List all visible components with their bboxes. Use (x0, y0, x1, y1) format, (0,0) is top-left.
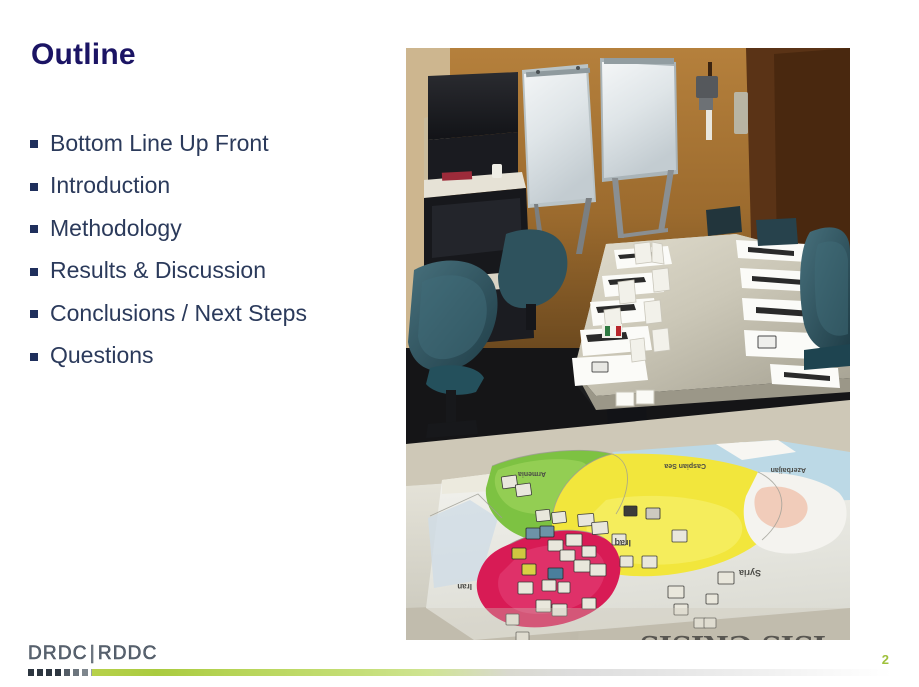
wargame-room-photo: Armenia Caspian Sea Azerbaijan Iraq Syri… (406, 48, 850, 640)
slide-canvas: Outline Bottom Line Up Front Introductio… (0, 0, 919, 687)
page-number: 2 (882, 652, 889, 667)
list-item-label: Conclusions / Next Steps (50, 302, 307, 325)
square-bullet-icon (30, 183, 38, 191)
map-label-syria: Syria (738, 568, 761, 578)
square-bullet-icon (30, 310, 38, 318)
slide-footer: DRDC|RDDC 2 (0, 639, 919, 687)
logo-separator: | (88, 643, 98, 664)
drdc-rddc-logo: DRDC|RDDC (28, 643, 158, 665)
logo-right-text: RDDC (98, 643, 158, 664)
list-item-label: Results & Discussion (50, 259, 266, 282)
list-item-label: Bottom Line Up Front (50, 132, 269, 155)
list-item-label: Methodology (50, 217, 182, 240)
list-item: Results & Discussion (30, 250, 390, 293)
list-item-label: Questions (50, 344, 154, 367)
square-bullet-icon (30, 225, 38, 233)
map-label-caspian: Caspian Sea (664, 462, 706, 469)
list-item: Conclusions / Next Steps (30, 292, 390, 335)
map-label-iraq: Iraq (614, 538, 631, 548)
footer-gradient-bar (92, 669, 892, 676)
photo-illustration: Armenia Caspian Sea Azerbaijan Iraq Syri… (406, 48, 850, 640)
list-item: Introduction (30, 165, 390, 208)
map-label-armenia: Armenia (518, 470, 546, 477)
square-bullet-icon (30, 268, 38, 276)
logo-left-text: DRDC (28, 643, 88, 664)
list-item-label: Introduction (50, 174, 170, 197)
logo-dot-pattern (28, 668, 100, 676)
page-title: Outline (31, 38, 136, 71)
map-label-azerbaijan: Azerbaijan (771, 466, 806, 473)
list-item: Questions (30, 335, 390, 378)
list-item: Bottom Line Up Front (30, 122, 390, 165)
list-item: Methodology (30, 207, 390, 250)
square-bullet-icon (30, 140, 38, 148)
outline-bullet-list: Bottom Line Up Front Introduction Method… (30, 122, 390, 377)
map-label-iran: Iran (457, 582, 472, 591)
square-bullet-icon (30, 353, 38, 361)
